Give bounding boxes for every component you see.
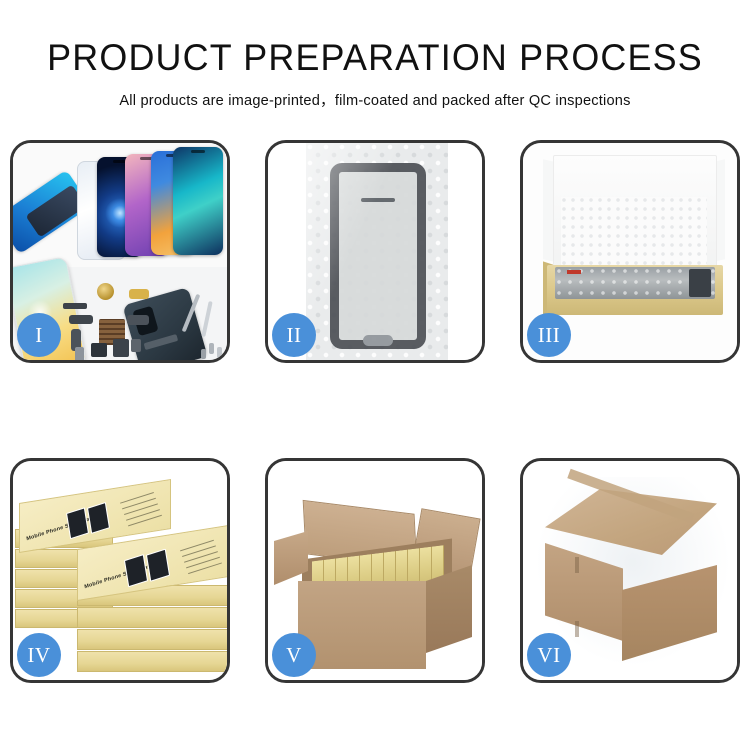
step-panel-6: VI [520,458,740,683]
flex-cable-part-3 [129,289,149,299]
process-steps-grid: I II [10,140,740,685]
step-panel-5: V [265,458,485,683]
screw-part-2 [217,347,222,358]
carton-front-face [298,581,426,669]
step-badge-2: II [272,313,316,357]
speaker-part [91,343,107,357]
step-badge-5: V [272,633,316,677]
screw-part-1 [209,343,214,354]
screw-part-3 [201,349,206,359]
step-panel-3: III [520,140,740,363]
step-badge-6: VI [527,633,571,677]
foam-liner [561,197,707,267]
battery-part [113,339,129,357]
step-panel-2: II [265,140,485,363]
header: PRODUCT PREPARATION PROCESS All products… [0,0,750,110]
product-preparation-infographic: PRODUCT PREPARATION PROCESS All products… [0,0,750,750]
page-subtitle: All products are image-printed，film-coat… [0,80,750,110]
phone-screen-teal-icon [173,147,223,255]
step-badge-4: IV [17,633,61,677]
flex-cable-part-4 [127,315,149,325]
step-badge-1: I [17,313,61,357]
flex-cable-part-1 [69,315,93,324]
speaker-coil-part [97,283,114,300]
capacitor-part [131,339,141,352]
step-panel-4: Mobile Phone Spare Parts Mobile Phone Sp… [10,458,230,683]
flex-strip-part [63,303,87,309]
step-badge-3: III [527,313,571,357]
step-panel-1: I [10,140,230,363]
page-title: PRODUCT PREPARATION PROCESS [11,0,739,80]
sim-tray-part [75,347,84,360]
